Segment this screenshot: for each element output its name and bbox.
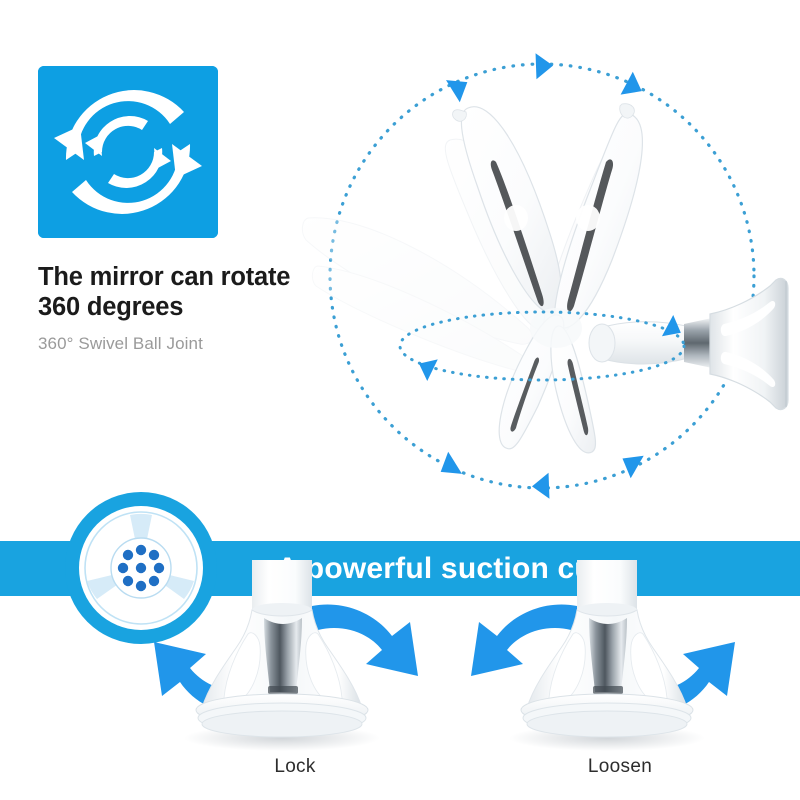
- hero-product-area: [300, 28, 800, 523]
- cup-figure-loosen: Loosen: [455, 560, 785, 800]
- suction-cup-head: [684, 278, 788, 409]
- cup-caption-loosen: Loosen: [455, 756, 785, 778]
- mirror-blade-right: [555, 104, 643, 328]
- cup-figure-lock: Lock: [130, 560, 460, 800]
- feature-subheading: 360° Swivel Ball Joint: [38, 334, 338, 354]
- cup-caption-lock: Lock: [130, 756, 460, 778]
- infographic-page: The mirror can rotate 360 degrees 360° S…: [0, 0, 800, 800]
- rotate-360-icon: [38, 66, 218, 238]
- feature-block: The mirror can rotate 360 degrees 360° S…: [38, 66, 338, 354]
- feature-heading: The mirror can rotate 360 degrees: [38, 262, 338, 322]
